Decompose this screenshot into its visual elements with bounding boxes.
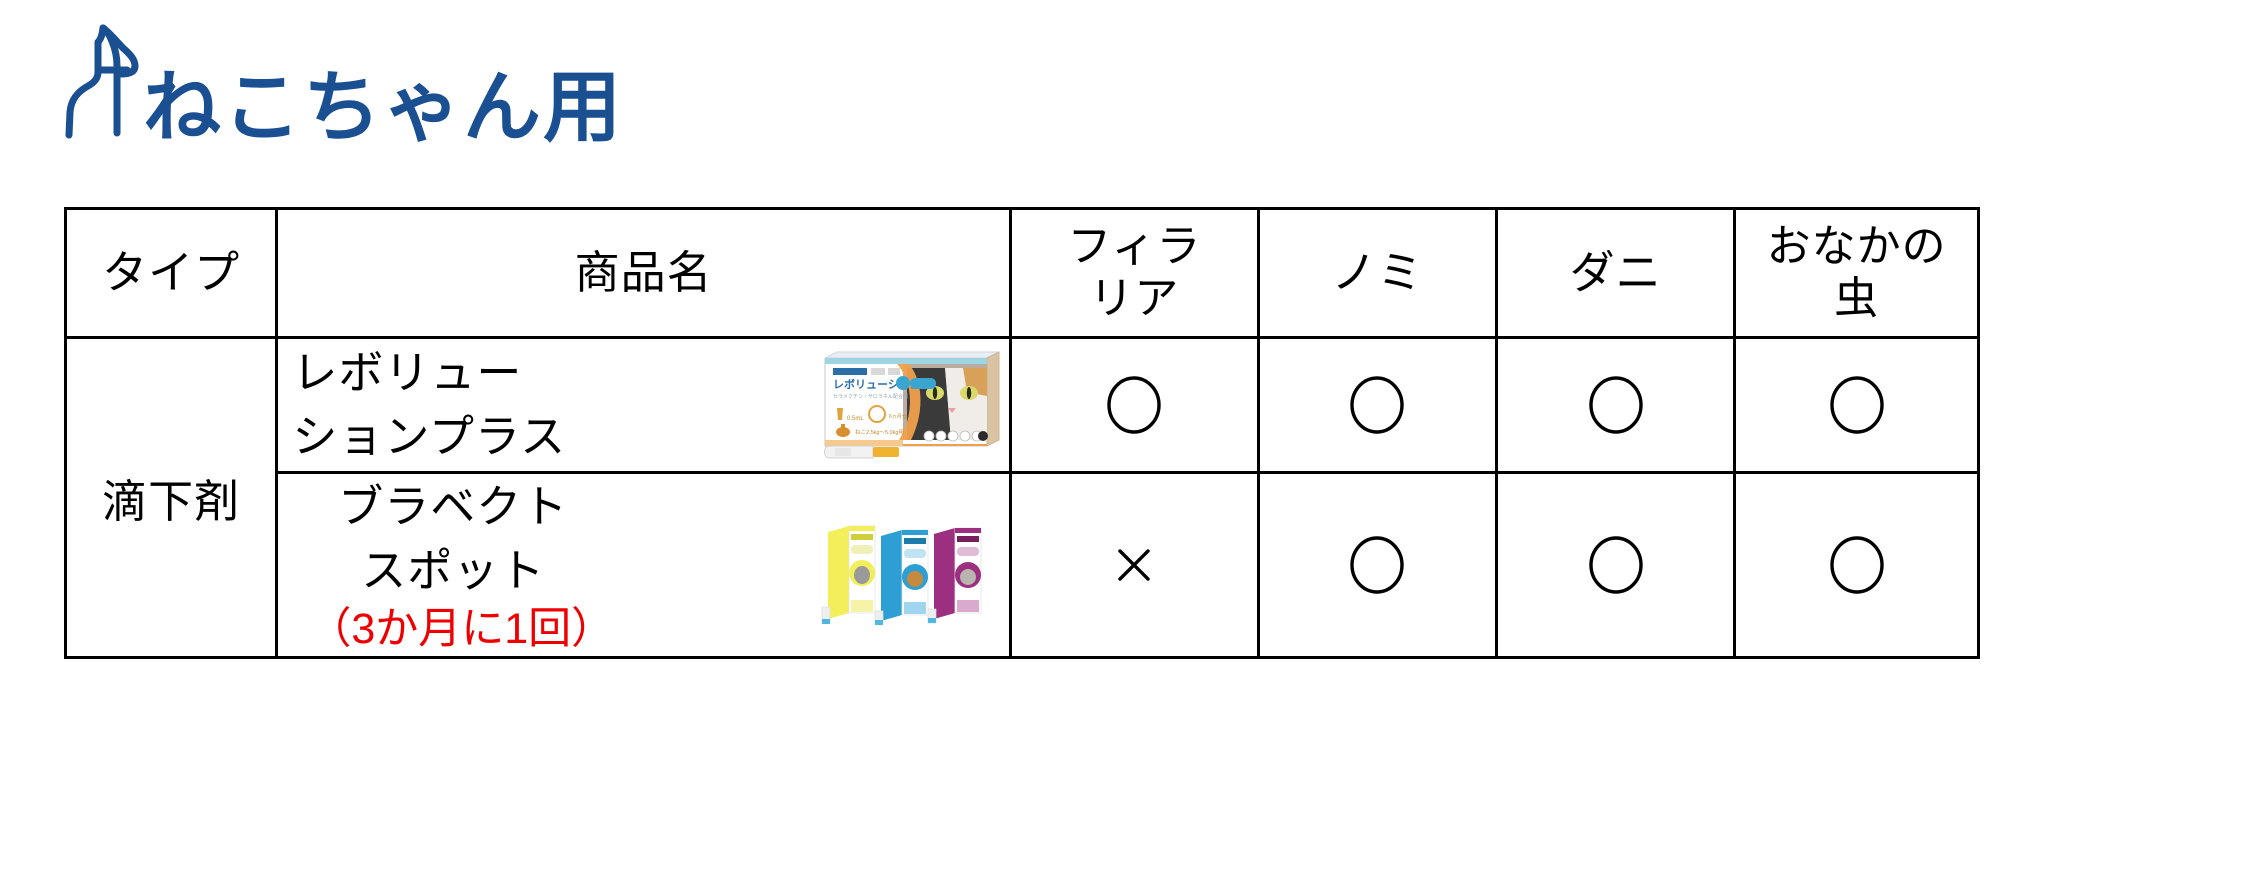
circle-mark-icon [1585,374,1647,436]
circle-mark-icon [1585,534,1647,596]
table-row: 滴下剤 レボリュー ションプラス [66,338,1979,473]
svg-text:6ヵ月分: 6ヵ月分 [889,413,907,420]
bravecto-spot-boxes-image [805,501,1003,630]
table-row: ブラベクト スポット （3か月に1回） [66,473,1979,658]
cell-tick-1 [1497,338,1735,473]
cell-worm-1 [1735,338,1979,473]
product-comparison-table: タイプ 商品名 フィラ リア ノミ ダニ おなかの 虫 滴下剤 レボリュー ショ… [64,207,1980,659]
svg-text:ねこ2.5kg～5.0kg用: ねこ2.5kg～5.0kg用 [855,429,904,436]
cell-product-name-2: ブラベクト スポット （3か月に1回） [277,473,1011,658]
cell-filaria-1 [1011,338,1259,473]
header-tick: ダニ [1497,209,1735,338]
circle-mark-icon [1103,374,1165,436]
svg-text:セラメクチン・サロラネル配合剤: セラメクチン・サロラネル配合剤 [833,393,908,400]
revolution-plus-box-image: レボリューション セラメクチン・サロラネル配合剤 0.5mL 6ヵ月分 [811,344,1003,467]
page-title: ねこちゃん用 [55,18,623,140]
cell-flea-2 [1258,473,1496,658]
circle-mark-icon [1826,374,1888,436]
page-root: ねこちゃん用 タイプ 商品名 フィラ リア ノミ ダニ おなかの 虫 滴下剤 [0,0,2250,879]
header-name: 商品名 [277,209,1011,338]
header-type: タイプ [66,209,277,338]
cross-mark-icon [1106,537,1162,593]
cell-worm-2 [1735,473,1979,658]
header-worm: おなかの 虫 [1735,209,1979,338]
header-flea: ノミ [1258,209,1496,338]
cell-type-group: 滴下剤 [66,338,277,658]
circle-mark-icon [1826,534,1888,596]
product-name-label: ブラベクト スポット [338,481,568,596]
product-name-note: （3か月に1回） [292,605,614,654]
cell-flea-1 [1258,338,1496,473]
header-filaria: フィラ リア [1011,209,1259,338]
cat-icon [55,20,141,140]
circle-mark-icon [1346,374,1408,436]
cell-filaria-2 [1011,473,1259,658]
cell-tick-2 [1497,473,1735,658]
svg-text:0.5mL: 0.5mL [847,416,864,422]
cell-product-name-1: レボリュー ションプラス [277,338,1011,473]
page-title-label: ねこちゃん用 [143,68,623,146]
product-name-label: レボリュー ションプラス [292,341,566,469]
circle-mark-icon [1346,534,1408,596]
table-header-row: タイプ 商品名 フィラ リア ノミ ダニ おなかの 虫 [66,209,1979,338]
